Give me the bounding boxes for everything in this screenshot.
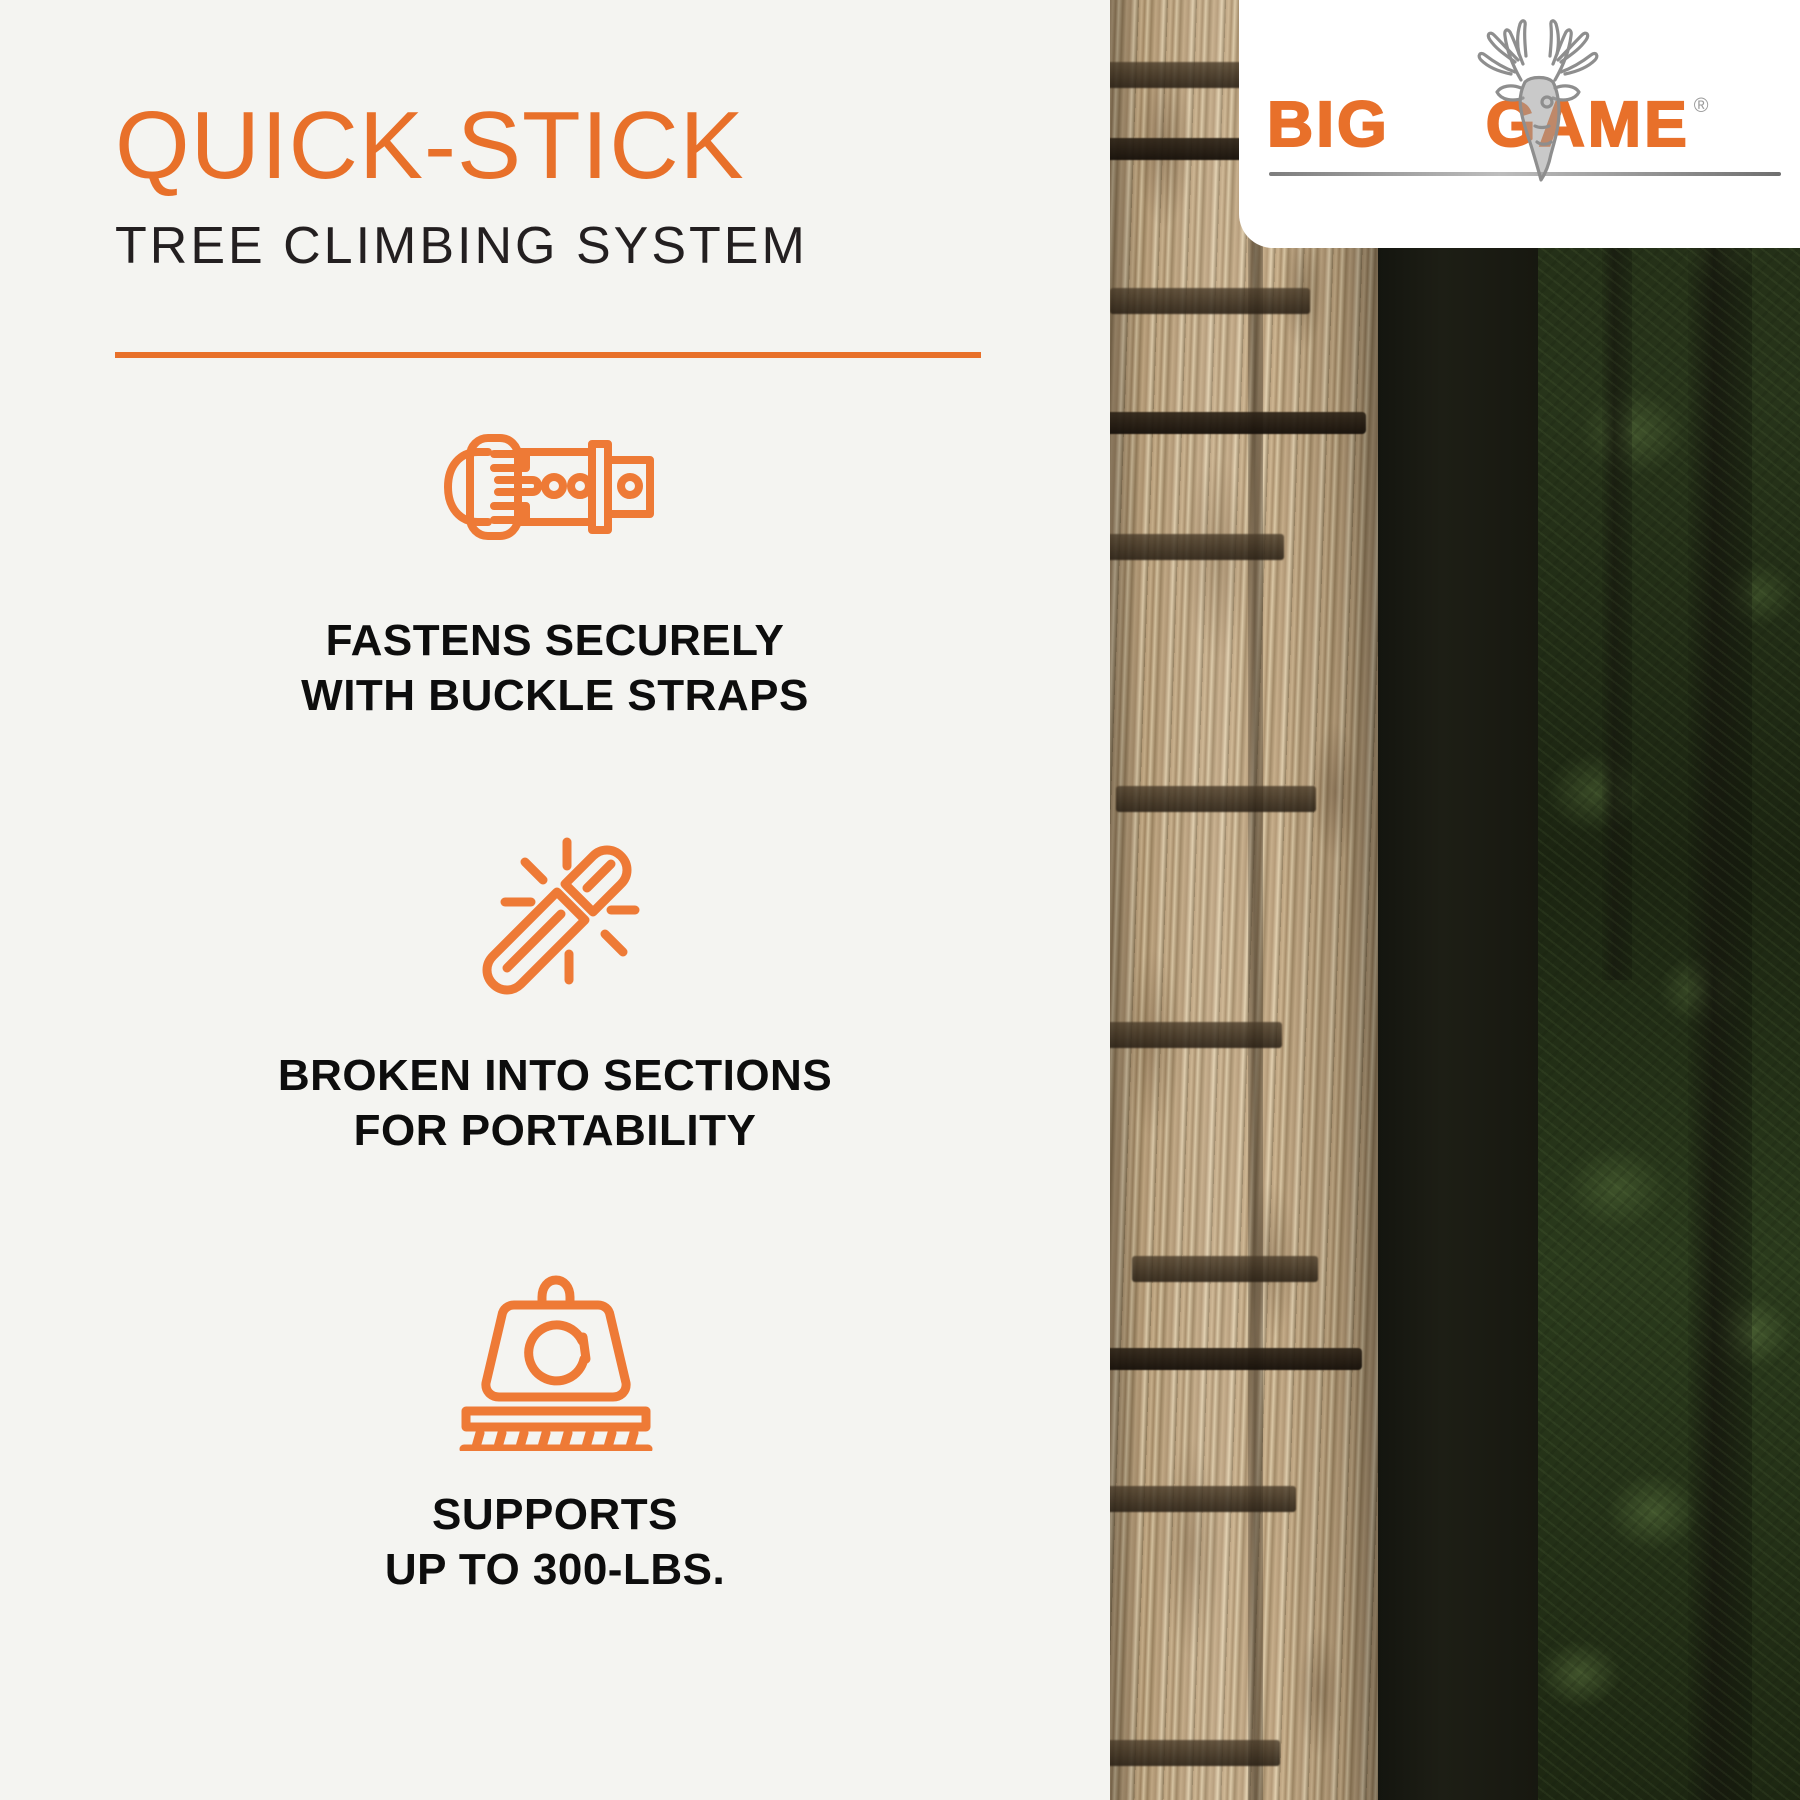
feature-line-2: FOR PORTABILITY <box>0 1104 1110 1159</box>
product-photo <box>1110 0 1800 1800</box>
product-feature-poster: QUICK-STICK TREE CLIMBING SYSTEM <box>0 0 1800 1800</box>
headline-block: QUICK-STICK TREE CLIMBING SYSTEM <box>115 98 1015 272</box>
deer-head-antlers-icon <box>1463 8 1613 186</box>
ratchet-buckle-strap <box>1110 1348 1362 1370</box>
background-dark-tree <box>1378 0 1538 1800</box>
broken-stick-icon <box>0 827 1110 1017</box>
feature-line-2: WITH BUCKLE STRAPS <box>0 669 1110 724</box>
feature-item-weight-capacity: SUPPORTS UP TO 300-LBS. <box>0 1266 1110 1597</box>
climbing-step <box>1132 1256 1318 1282</box>
climbing-step <box>1110 1740 1280 1766</box>
feature-line-1: SUPPORTS <box>0 1488 1110 1543</box>
left-content-panel: QUICK-STICK TREE CLIMBING SYSTEM <box>0 0 1110 1800</box>
weight-on-platform-icon <box>0 1266 1110 1456</box>
climbing-step <box>1110 1486 1296 1512</box>
climbing-step <box>1110 534 1284 560</box>
belt-buckle-icon <box>0 392 1110 582</box>
feature-list: FASTENS SECURELY WITH BUCKLE STRAPS <box>0 392 1110 1655</box>
feature-item-portability: BROKEN INTO SECTIONS FOR PORTABILITY <box>0 827 1110 1158</box>
feature-line-1: FASTENS SECURELY <box>0 614 1110 669</box>
page-title: QUICK-STICK <box>115 98 1015 194</box>
brand-logo-card: BIG GAME ® <box>1239 0 1800 248</box>
bark-texture <box>1110 0 1378 1800</box>
feature-line-1: BROKEN INTO SECTIONS <box>0 1049 1110 1104</box>
registered-trademark-mark: ® <box>1694 95 1709 118</box>
feature-line-2: UP TO 300-LBS. <box>0 1543 1110 1598</box>
climbing-stick-rail <box>1248 0 1263 1800</box>
brand-word-big: BIG <box>1267 92 1390 156</box>
climbing-step <box>1116 786 1316 812</box>
forest-background <box>1538 0 1800 1800</box>
feature-label-portability: BROKEN INTO SECTIONS FOR PORTABILITY <box>0 1049 1110 1158</box>
feature-label-buckle-straps: FASTENS SECURELY WITH BUCKLE STRAPS <box>0 614 1110 723</box>
climbing-step <box>1110 288 1310 314</box>
brand-logo: BIG GAME ® <box>1267 20 1800 200</box>
climbing-step <box>1110 1022 1282 1048</box>
ratchet-buckle-strap <box>1110 412 1366 434</box>
feature-label-weight-capacity: SUPPORTS UP TO 300-LBS. <box>0 1488 1110 1597</box>
page-subtitle: TREE CLIMBING SYSTEM <box>115 220 1015 272</box>
accent-divider-rule <box>115 352 981 358</box>
feature-item-buckle-straps: FASTENS SECURELY WITH BUCKLE STRAPS <box>0 392 1110 723</box>
foliage-texture <box>1538 0 1800 1800</box>
tree-trunk <box>1110 0 1378 1800</box>
